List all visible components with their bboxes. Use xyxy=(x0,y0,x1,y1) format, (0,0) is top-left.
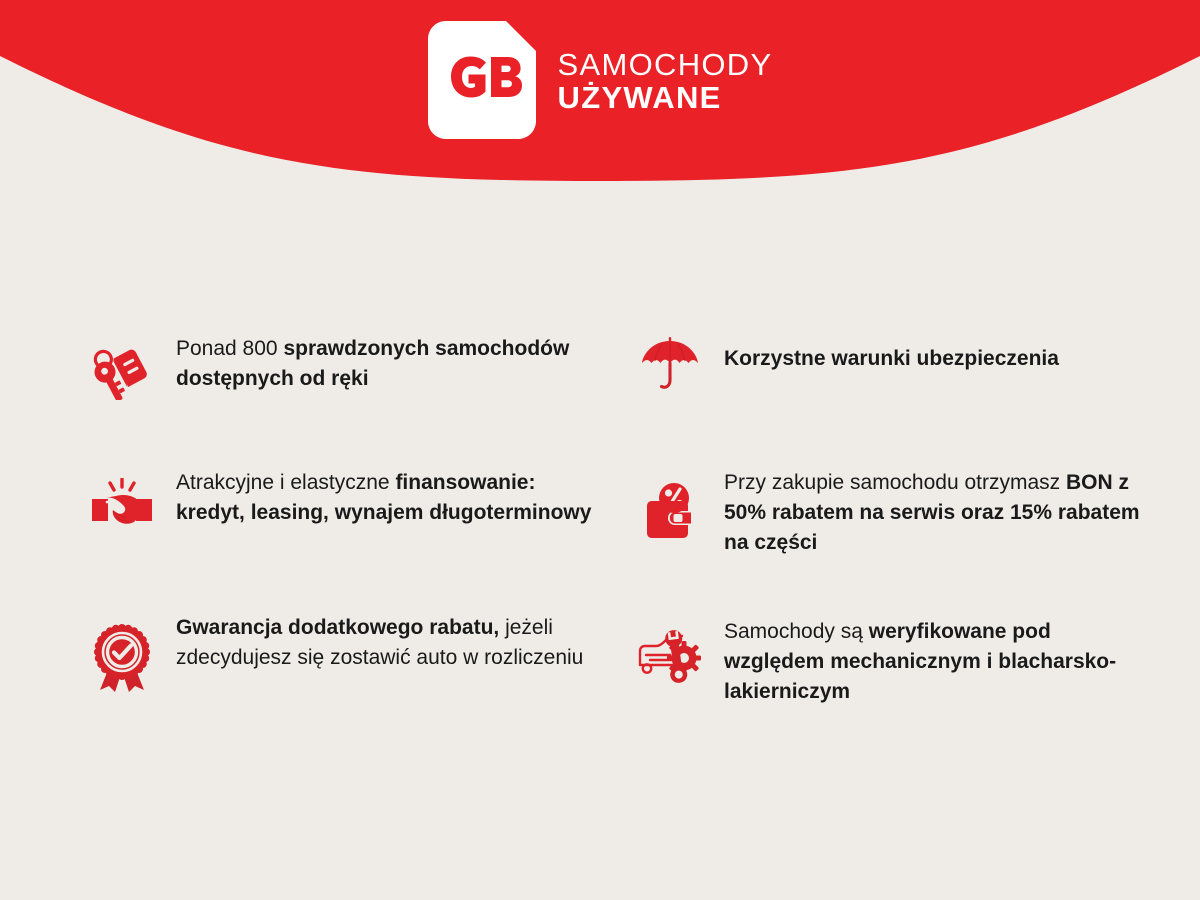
handshake-icon xyxy=(88,470,156,544)
feature-item-trade-in-guarantee: Gwarancja dodatkowego rabatu, jeżeli zde… xyxy=(88,613,618,706)
feature-item-voucher: Przy zakupie samochodu otrzymasz BON z 5… xyxy=(618,464,1148,557)
car-key-icon xyxy=(88,334,156,408)
feature-text-regular: Atrakcyjne i elastyczne xyxy=(176,471,395,494)
feature-item-cars-available: Ponad 800 sprawdzonych samochodów dostęp… xyxy=(88,330,618,408)
infographic-page: SAMOCHODY UŻYWANE xyxy=(0,0,1200,900)
brand-line-2: UŻYWANE xyxy=(558,82,773,115)
feature-text-regular: Samochody są xyxy=(724,620,869,643)
gb-logo-tile xyxy=(428,21,536,139)
award-rosette-icon xyxy=(88,621,156,695)
feature-text-insurance: Korzystne warunki ubezpieczenia xyxy=(724,330,1059,374)
feature-text-bold: Gwarancja dodatkowego rabatu, xyxy=(176,616,499,639)
brand-line-1: SAMOCHODY xyxy=(558,49,773,82)
brand-wordmark: SAMOCHODY UŻYWANE xyxy=(558,45,773,115)
wallet-percent-icon xyxy=(636,476,704,550)
feature-item-financing: Atrakcyjne i elastyczne finansowanie: kr… xyxy=(88,464,618,557)
feature-text-voucher: Przy zakupie samochodu otrzymasz BON z 5… xyxy=(724,464,1148,557)
header-content: SAMOCHODY UŻYWANE xyxy=(0,0,1200,160)
features-grid: Ponad 800 sprawdzonych samochodów dostęp… xyxy=(88,330,1148,707)
feature-text-trade-in-guarantee: Gwarancja dodatkowego rabatu, jeżeli zde… xyxy=(176,613,606,673)
car-wrench-gear-icon xyxy=(636,619,704,693)
umbrella-icon xyxy=(636,328,704,402)
feature-text-cars-available: Ponad 800 sprawdzonych samochodów dostęp… xyxy=(176,330,606,394)
feature-text-financing: Atrakcyjne i elastyczne finansowanie: kr… xyxy=(176,464,606,528)
feature-text-verification: Samochody są weryfikowane pod względem m… xyxy=(724,613,1148,706)
feature-text-bold: Korzystne warunki ubezpieczenia xyxy=(724,347,1059,370)
feature-text-regular: Przy zakupie samochodu otrzymasz xyxy=(724,471,1066,494)
feature-item-insurance: Korzystne warunki ubezpieczenia xyxy=(618,330,1148,408)
feature-item-verification: Samochody są weryfikowane pod względem m… xyxy=(618,613,1148,706)
feature-text-regular: Ponad 800 xyxy=(176,337,283,360)
